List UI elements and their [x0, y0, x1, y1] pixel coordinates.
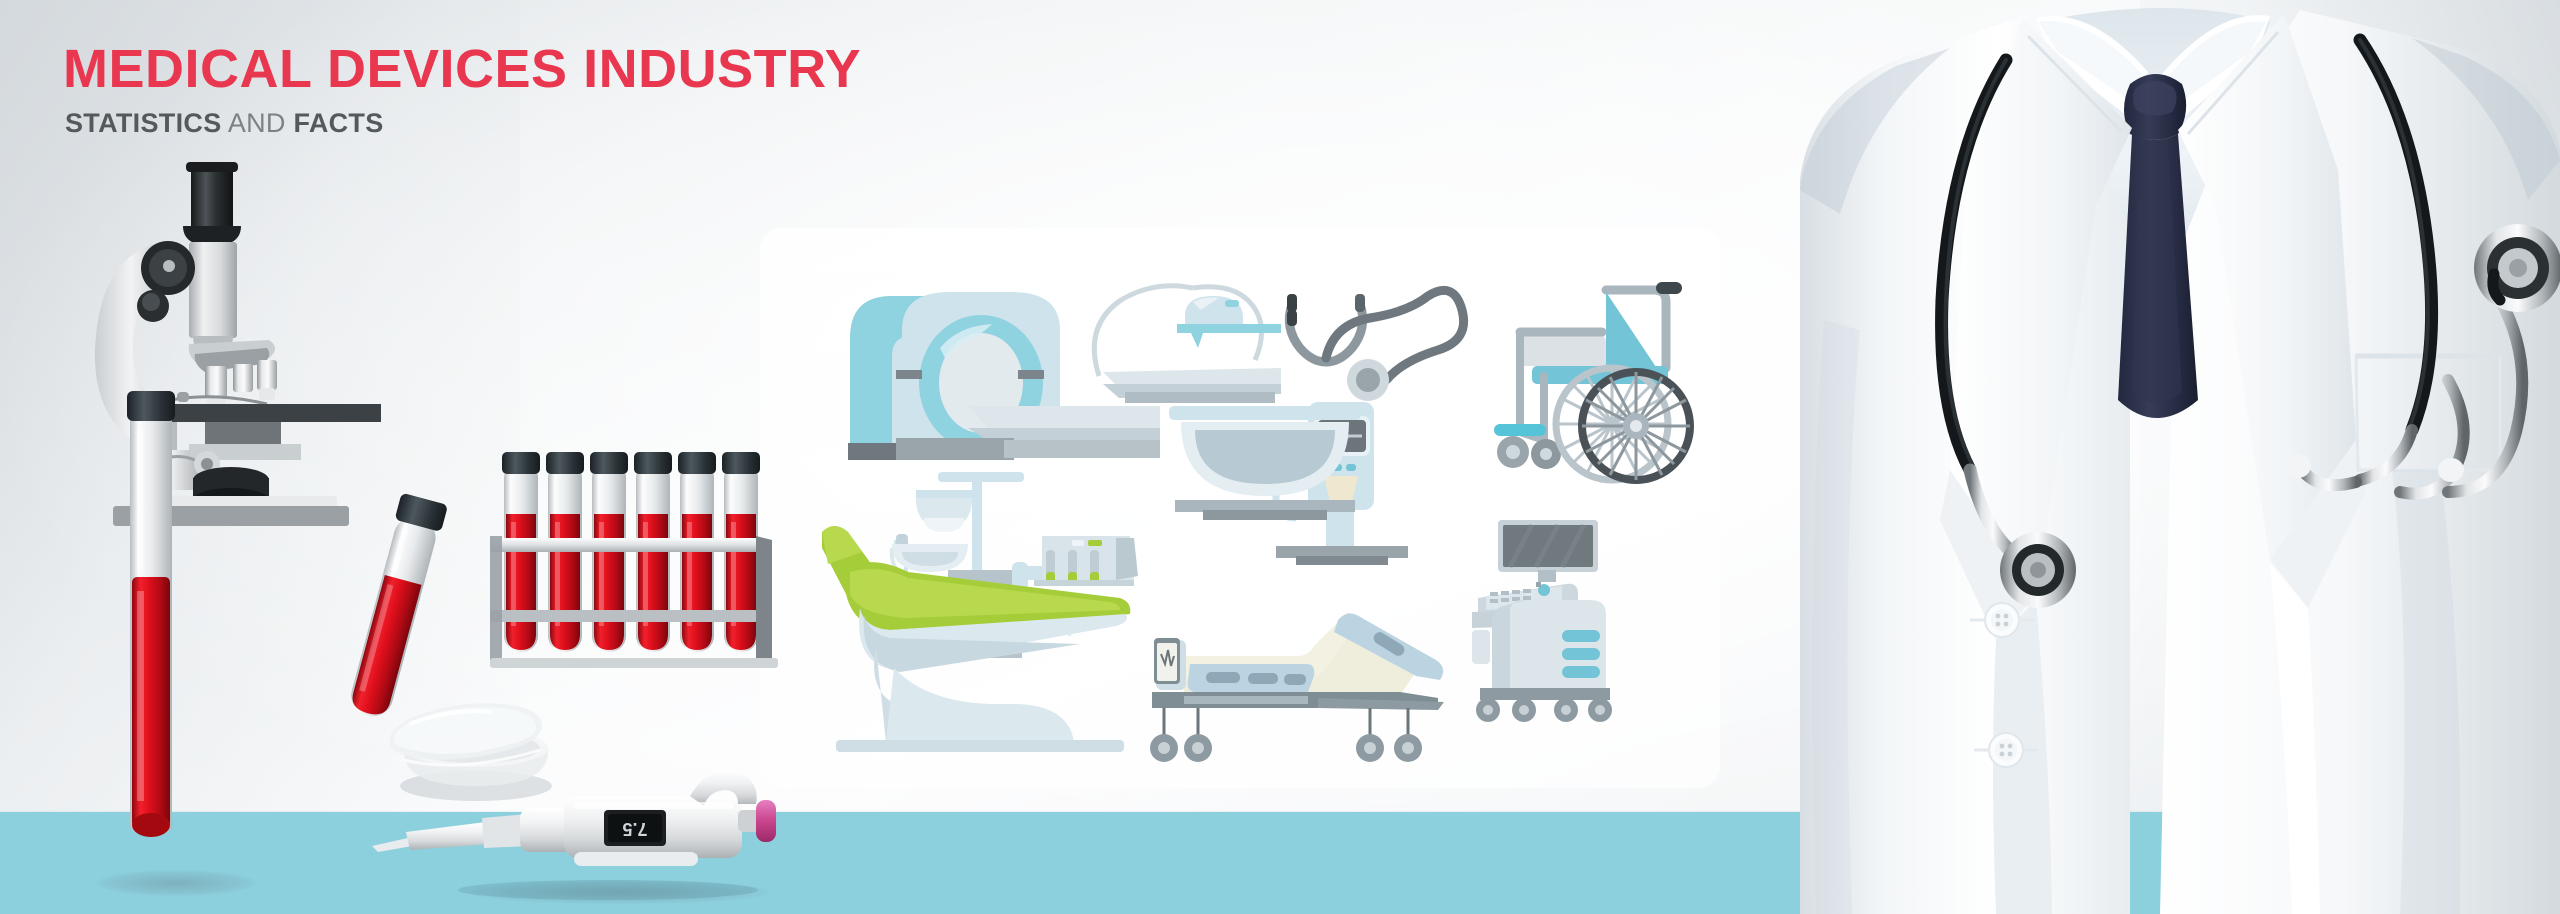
subtitle-facts: FACTS	[294, 108, 384, 138]
pipette-display-value: 7.5	[622, 819, 647, 839]
microscope	[55, 160, 405, 530]
doctor-figure	[1800, 0, 2560, 914]
shadow-tube-upright	[96, 870, 256, 896]
surgical-basin-icon	[1165, 400, 1365, 530]
test-tube-rack	[490, 452, 790, 692]
page-title: MEDICAL DEVICES INDUSTRY	[63, 42, 861, 96]
pipette-plunger-cap	[756, 800, 776, 842]
blood-tube-upright	[124, 391, 178, 851]
subtitle-and: AND	[228, 108, 286, 138]
ultrasound-machine-icon	[1470, 512, 1660, 742]
headline-block: MEDICAL DEVICES INDUSTRY STATISTICS AND …	[63, 42, 861, 137]
medical-devices-banner: MEDICAL DEVICES INDUSTRY STATISTICS AND …	[0, 0, 2560, 914]
subtitle-statistics: STATISTICS	[65, 108, 222, 138]
dental-chair-icon	[820, 468, 1150, 768]
hospital-bed-icon	[1148, 598, 1458, 788]
page-subtitle: STATISTICS AND FACTS	[65, 110, 861, 137]
wheelchair-icon	[1486, 272, 1696, 484]
micropipette: 7.5	[368, 770, 788, 910]
